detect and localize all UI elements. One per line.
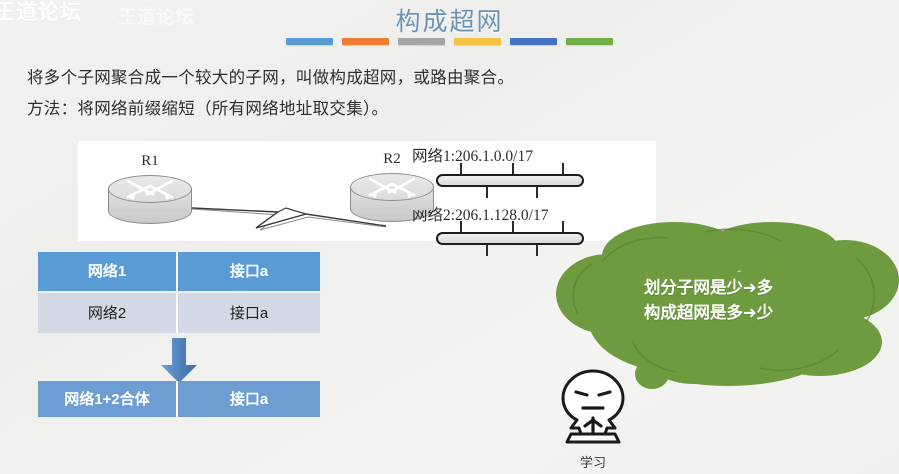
table-row-merged: 网络1+2合体 接口a [38, 381, 320, 417]
bus-tick-down [536, 245, 538, 256]
network-1-bus [436, 174, 584, 187]
bar-green [566, 38, 613, 45]
router-arrows-icon [350, 173, 434, 203]
bus-tick-up [512, 163, 514, 174]
router-r1-label: R1 [108, 153, 192, 170]
doodle-caption: 学习 [545, 452, 641, 471]
cell-interface: 接口a [178, 381, 320, 417]
table-row-network-2: 网络2 接口a [38, 293, 320, 333]
body-line-1: 将多个子网聚合成一个较大的子网，叫做构成超网，或路由聚合。 [27, 64, 514, 88]
bar-navy [510, 38, 557, 45]
table-row-network-1: 网络1 接口a [38, 252, 320, 291]
bus-pipe [436, 174, 584, 187]
bar-blue [286, 38, 333, 45]
cell-network: 网络1+2合体 [38, 381, 178, 417]
router-r1: R1 [108, 175, 192, 221]
bus-tick-up [512, 221, 514, 232]
slide-canvas: 王道论坛 王道论坛 构成超网 将多个子网聚合成一个较大的子网，叫做构成超网，或路… [0, 0, 899, 474]
down-arrow-icon [159, 338, 199, 383]
bus-tick-up [460, 163, 462, 174]
accent-bar-row [0, 38, 899, 45]
cell-interface: 接口a [178, 252, 320, 291]
bar-gray [398, 38, 445, 45]
bus-tick-up [460, 221, 462, 232]
cell-network: 网络2 [38, 293, 178, 333]
bar-yellow [454, 38, 501, 45]
bus-tick-up [562, 163, 564, 174]
cell-interface: 接口a [178, 293, 320, 333]
bus-tick-down [486, 187, 488, 198]
router-arrows-icon [108, 175, 192, 205]
bar-orange [342, 38, 389, 45]
body-line-2: 方法：将网络前缀缩短（所有网络地址取交集）。 [27, 95, 388, 119]
bus-tick-down [486, 245, 488, 256]
network-1-label: 网络1:206.1.0.0/17 [412, 144, 533, 166]
bus-tick-down [536, 187, 538, 198]
doodle-character-icon [545, 368, 641, 450]
page-title: 构成超网 [0, 2, 899, 38]
cell-network: 网络1 [38, 252, 178, 291]
